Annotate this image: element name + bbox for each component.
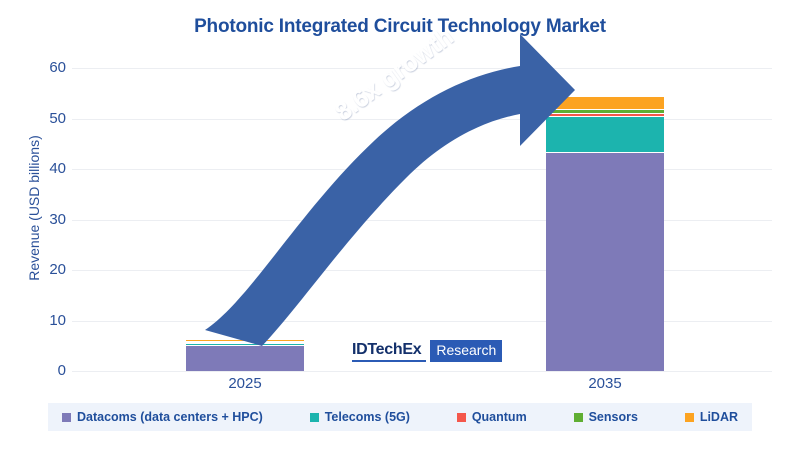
bar-segment[interactable] xyxy=(546,116,664,152)
legend-item-lidar[interactable]: LiDAR xyxy=(685,410,738,424)
y-axis-tick-label: 20 xyxy=(6,261,66,278)
chart-canvas: Photonic Integrated Circuit Technology M… xyxy=(0,0,800,450)
legend-label: Quantum xyxy=(472,410,527,424)
chart-title: Photonic Integrated Circuit Technology M… xyxy=(0,16,800,38)
y-axis-tick-label: 60 xyxy=(6,59,66,76)
legend-item-sensors[interactable]: Sensors xyxy=(574,410,638,424)
legend-swatch-icon xyxy=(457,413,466,422)
y-axis-tick-label: 30 xyxy=(6,211,66,228)
bar-2025[interactable] xyxy=(186,339,304,371)
legend-label: Datacoms (data centers + HPC) xyxy=(77,410,263,424)
gridline xyxy=(72,169,772,170)
gridline xyxy=(72,220,772,221)
bar-2035[interactable] xyxy=(546,96,664,371)
legend-swatch-icon xyxy=(310,413,319,422)
logo-badge: Research xyxy=(430,340,502,362)
x-axis-tick-label: 2035 xyxy=(555,375,655,392)
legend-label: LiDAR xyxy=(700,410,738,424)
y-axis-tick-label: 50 xyxy=(6,110,66,127)
legend-swatch-icon xyxy=(574,413,583,422)
idtechex-logo: IDTechEx Research xyxy=(352,340,502,362)
y-axis-tick-label: 40 xyxy=(6,160,66,177)
chart-legend: Datacoms (data centers + HPC)Telecoms (5… xyxy=(48,403,752,431)
legend-item-telecoms-5g[interactable]: Telecoms (5G) xyxy=(310,410,410,424)
bar-segment[interactable] xyxy=(546,96,664,110)
gridline xyxy=(72,371,772,372)
bar-segment[interactable] xyxy=(186,345,304,371)
legend-label: Sensors xyxy=(589,410,638,424)
plot-area: 0102030405060 20252035 xyxy=(72,68,772,371)
gridline xyxy=(72,119,772,120)
legend-item-datacoms-data-centers-hpc[interactable]: Datacoms (data centers + HPC) xyxy=(62,410,263,424)
bar-segment[interactable] xyxy=(546,152,664,371)
legend-swatch-icon xyxy=(685,413,694,422)
gridline xyxy=(72,321,772,322)
y-axis-tick-label: 0 xyxy=(6,362,66,379)
legend-item-quantum[interactable]: Quantum xyxy=(457,410,527,424)
logo-wordmark: IDTechEx xyxy=(352,340,426,362)
legend-label: Telecoms (5G) xyxy=(325,410,410,424)
gridline xyxy=(72,270,772,271)
x-axis-tick-label: 2025 xyxy=(195,375,295,392)
y-axis-tick-label: 10 xyxy=(6,312,66,329)
legend-swatch-icon xyxy=(62,413,71,422)
